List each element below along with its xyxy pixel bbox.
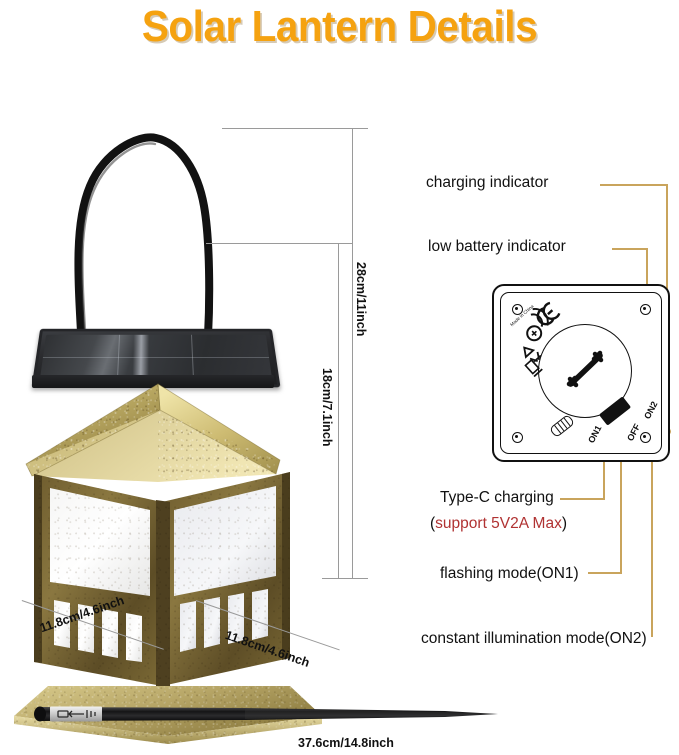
- leader-flashing-v: [620, 452, 622, 574]
- dimension-leader-panel: [206, 243, 352, 244]
- leader-constant-v: [651, 452, 653, 637]
- page-title: Solar Lantern Details: [27, 2, 652, 52]
- callout-flashing-mode: flashing mode(ON1): [440, 565, 579, 583]
- dimension-label-total-height: 28cm/11inch: [354, 262, 368, 336]
- hanging-handle: [60, 128, 230, 353]
- leader-flashing-h: [588, 572, 622, 574]
- note-red-text: support 5V2A Max: [435, 515, 562, 532]
- screw-top-right: [640, 304, 651, 315]
- dimension-label-stake-length: 37.6cm/14.8inch: [298, 736, 394, 750]
- lantern-roof: [8, 382, 328, 482]
- wire-symbol-icon: [564, 348, 608, 397]
- lantern-body: [28, 472, 308, 698]
- leader-charging-indicator-h: [600, 184, 668, 186]
- leader-typec-h: [560, 498, 605, 500]
- callout-constant-mode: constant illumination mode(ON2): [421, 630, 647, 648]
- note-close-paren: ): [562, 515, 567, 532]
- dimension-leader-top: [222, 128, 352, 129]
- dimension-line-lantern-height: [338, 243, 339, 578]
- leader-low-battery-h: [612, 248, 648, 250]
- control-panel-diagram: Made in China ON1 OFF ON2: [492, 284, 670, 462]
- callout-type-c-charging: Type-C charging: [440, 489, 554, 507]
- dimension-label-lantern-height: 18cm/7.1inch: [320, 368, 334, 447]
- callout-low-battery-indicator: low battery indicator: [428, 238, 566, 256]
- dimension-tick-lantern-bottom: [322, 578, 352, 579]
- screw-bottom-right: [640, 432, 651, 443]
- solar-panel-glass: [40, 335, 273, 381]
- ground-stake-image: [30, 697, 500, 731]
- callout-charging-indicator: charging indicator: [426, 174, 548, 192]
- screw-bottom-left: [512, 432, 523, 443]
- dimension-line-total-height: [352, 128, 353, 578]
- lantern-product-image: [8, 120, 328, 650]
- callout-charging-note: (support 5V2A Max): [430, 515, 567, 533]
